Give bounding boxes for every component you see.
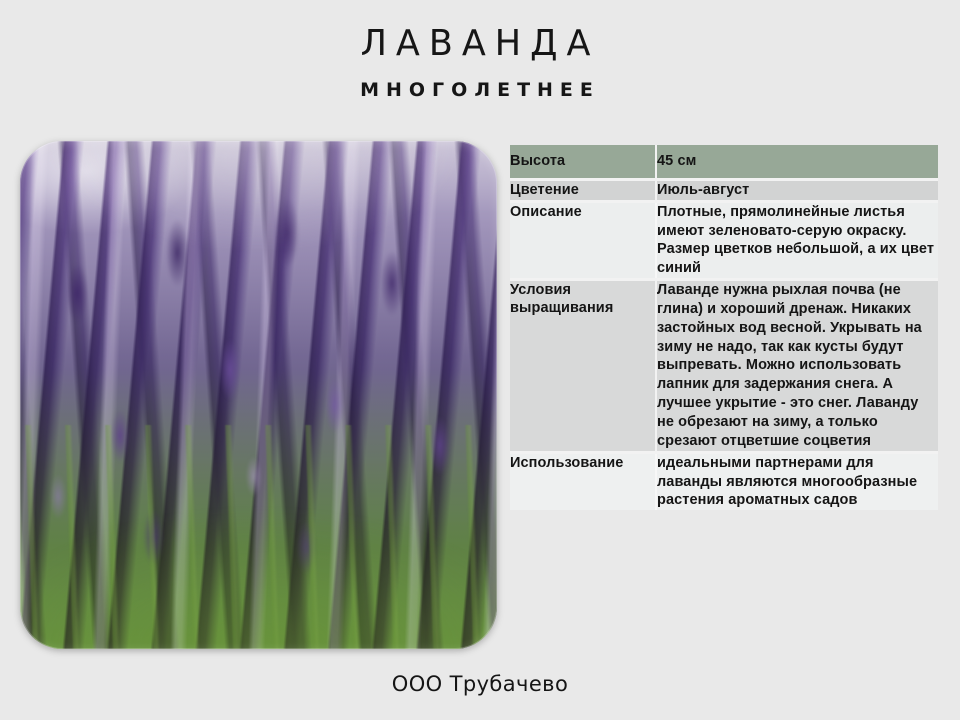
- plant-info-table: Высота 45 см Цветение Июль-август Описан…: [510, 145, 938, 510]
- row-label-bloom: Цветение: [510, 181, 656, 200]
- table-row: Высота 45 см: [510, 145, 938, 178]
- row-value-usage: идеальными партнерами для лаванды являют…: [656, 454, 938, 511]
- slide: ЛАВАНДА МНОГОЛЕТНЕЕ Высота 45 см Цветени…: [0, 0, 960, 720]
- row-value-growing-conditions: Лаванде нужна рыхлая почва (не глина) и …: [656, 281, 938, 451]
- row-label-growing-conditions: Условия выращивания: [510, 281, 656, 451]
- header: ЛАВАНДА МНОГОЛЕТНЕЕ: [0, 0, 960, 101]
- table-row: Использование идеальными партнерами для …: [510, 454, 938, 511]
- row-value-bloom: Июль-август: [656, 181, 938, 200]
- page-title: ЛАВАНДА: [0, 26, 960, 63]
- row-value-height: 45 см: [656, 145, 938, 178]
- row-value-description: Плотные, прямолинейные листья имеют зеле…: [656, 203, 938, 278]
- row-label-usage: Использование: [510, 454, 656, 511]
- table-row: Условия выращивания Лаванде нужна рыхлая…: [510, 281, 938, 451]
- lavender-photo: [20, 141, 497, 649]
- page-subtitle: МНОГОЛЕТНЕЕ: [0, 79, 960, 101]
- table-row: Цветение Июль-август: [510, 181, 938, 200]
- footer-company-name: ООО Трубачево: [0, 672, 960, 696]
- row-label-description: Описание: [510, 203, 656, 278]
- table-row: Описание Плотные, прямолинейные листья и…: [510, 203, 938, 278]
- row-label-height: Высота: [510, 145, 656, 178]
- photo-depth-layer: [20, 141, 497, 649]
